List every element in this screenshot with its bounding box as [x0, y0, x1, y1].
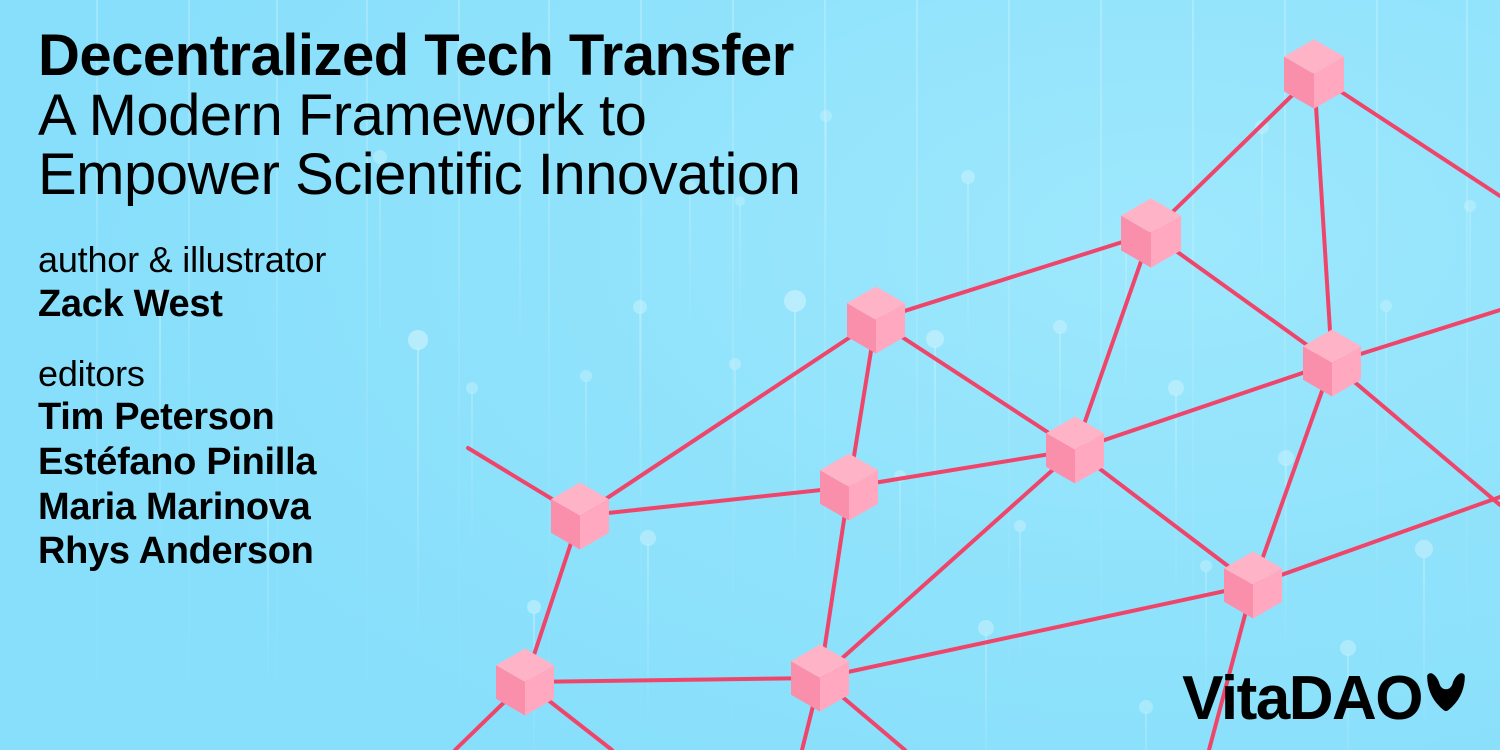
- credits-group-editors: editors Tim Peterson Estéfano Pinilla Ma…: [38, 353, 938, 575]
- graph-node-cube: [791, 645, 849, 712]
- graph-edge: [1075, 233, 1151, 450]
- credit-name: Zack West: [38, 282, 938, 327]
- graph-edge: [1151, 233, 1332, 363]
- logo-wordmark: VitaDAO: [1182, 668, 1422, 730]
- credit-role-label: editors: [38, 353, 938, 395]
- credit-name: Tim Peterson: [38, 395, 938, 440]
- graph-edge: [1075, 363, 1332, 450]
- credit-name: Estéfano Pinilla: [38, 440, 938, 485]
- title-line-2: A Modern Framework to: [38, 86, 938, 146]
- graph-edge-open: [1253, 497, 1500, 585]
- vitadao-logo: VitaDAO: [1182, 668, 1468, 730]
- graph-node-cube: [1284, 39, 1344, 108]
- cover-artwork: Decentralized Tech Transfer A Modern Fra…: [0, 0, 1500, 750]
- credit-name: Maria Marinova: [38, 485, 938, 530]
- credit-role-label: author & illustrator: [38, 239, 938, 281]
- graph-node-cube: [1046, 417, 1104, 484]
- credit-name: Rhys Anderson: [38, 529, 938, 574]
- page-title: Decentralized Tech Transfer A Modern Fra…: [38, 26, 938, 205]
- text-block: Decentralized Tech Transfer A Modern Fra…: [38, 26, 938, 574]
- title-line-3: Empower Scientific Innovation: [38, 145, 938, 205]
- heart-icon: [1424, 672, 1468, 712]
- graph-edge: [525, 678, 820, 682]
- credits-group-author: author & illustrator Zack West: [38, 239, 938, 326]
- credits: author & illustrator Zack West editors T…: [38, 239, 938, 574]
- graph-node-cube: [1224, 552, 1282, 619]
- graph-edge: [1075, 450, 1253, 585]
- graph-node-cube: [1121, 198, 1181, 267]
- graph-node-cube: [496, 649, 554, 716]
- title-line-1: Decentralized Tech Transfer: [38, 26, 938, 86]
- graph-edge: [1253, 363, 1332, 585]
- graph-node-cube: [1303, 330, 1361, 397]
- graph-edge: [1314, 74, 1332, 363]
- graph-edge-open: [1332, 363, 1500, 505]
- graph-edge: [1151, 74, 1314, 233]
